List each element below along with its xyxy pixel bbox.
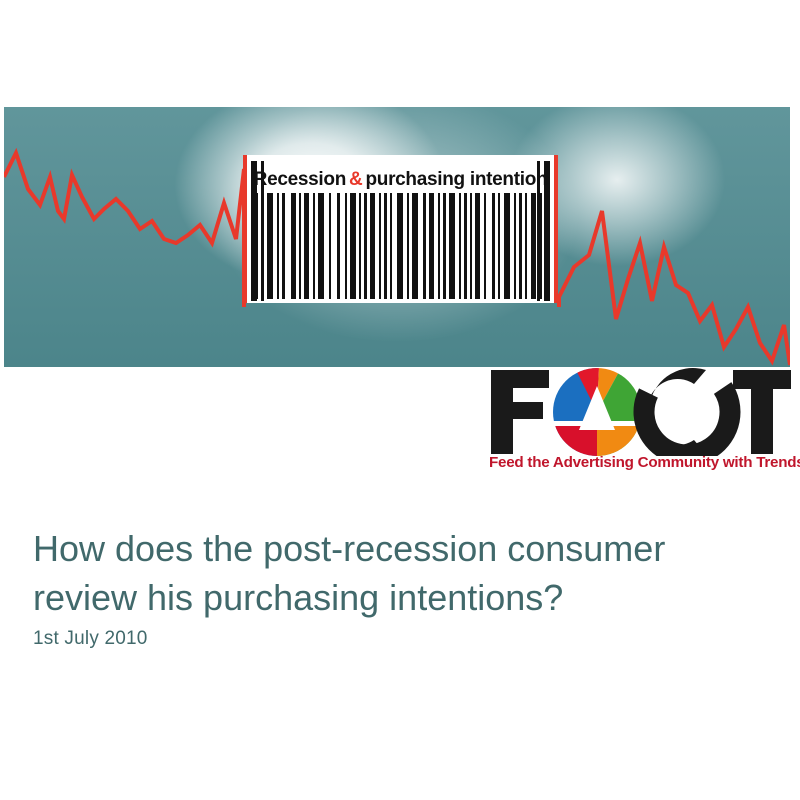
logo-letter-t: [733, 370, 791, 454]
fact-logo: Feed the Advertising Community with Tren…: [487, 368, 793, 480]
fact-logo-mark: [487, 368, 793, 456]
logo-letter-a-wheel: [553, 368, 641, 456]
barcode-caption-ampersand: &: [346, 169, 365, 191]
title-slide: Recession & purchasing intention: [0, 0, 800, 800]
barcode-bars: [251, 193, 550, 299]
headline-line-2: review his purchasing intentions?: [33, 573, 763, 622]
page-title: How does the post-recession consumer rev…: [33, 524, 763, 622]
barcode-right-edge: [554, 155, 558, 303]
barcode-graphic: Recession & purchasing intention: [243, 155, 558, 303]
fact-logo-letters: [487, 368, 793, 456]
logo-letter-f: [491, 370, 549, 454]
barcode-left-edge: [243, 155, 247, 303]
slide-date: 1st July 2010: [33, 628, 148, 650]
barcode-caption: Recession & purchasing intention: [257, 165, 544, 195]
fact-logo-tagline: Feed the Advertising Community with Tren…: [489, 454, 793, 471]
hero-banner: Recession & purchasing intention: [4, 107, 790, 367]
headline-line-1: How does the post-recession consumer: [33, 528, 665, 569]
barcode-caption-part2: purchasing intention: [365, 169, 547, 191]
barcode-caption-part1: Recession: [254, 169, 346, 191]
logo-letter-c: [627, 368, 746, 456]
